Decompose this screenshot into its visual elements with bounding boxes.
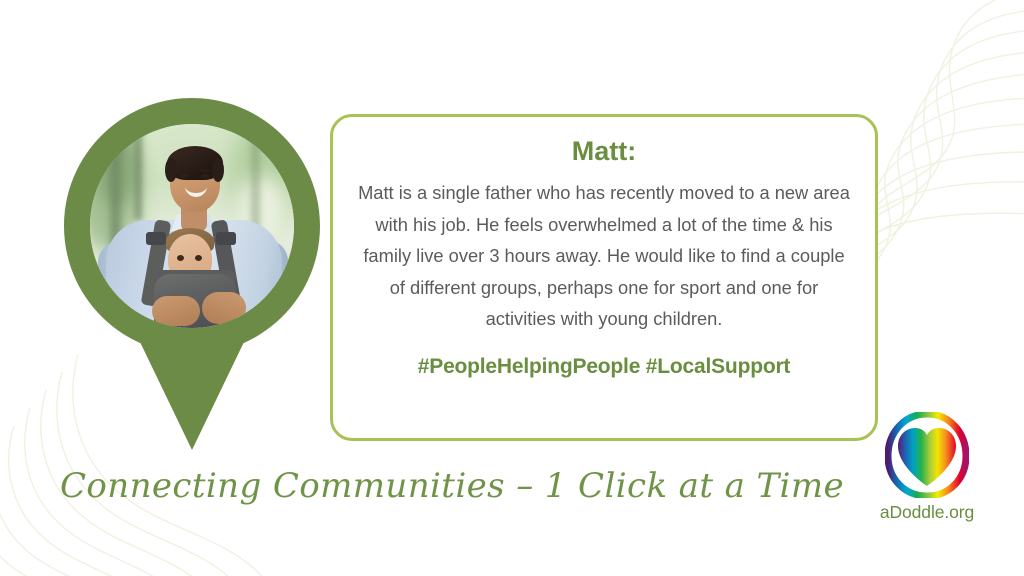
persona-name: Matt: — [572, 135, 636, 167]
brand-logo[interactable]: aDoddle.org — [862, 412, 992, 523]
persona-card: Matt: Matt is a single father who has re… — [330, 114, 878, 441]
rainbow-heart-logo-icon — [885, 412, 969, 498]
hashtags: #PeopleHelpingPeople #LocalSupport — [418, 355, 790, 379]
brand-name: aDoddle.org — [880, 502, 974, 523]
tagline: Connecting Communities – 1 Click at a Ti… — [60, 466, 844, 506]
social-card-canvas: Matt: Matt is a single father who has re… — [0, 0, 1024, 576]
persona-description: Matt is a single father who has recently… — [355, 177, 853, 334]
profile-pin — [62, 96, 322, 452]
profile-photo — [90, 124, 294, 328]
